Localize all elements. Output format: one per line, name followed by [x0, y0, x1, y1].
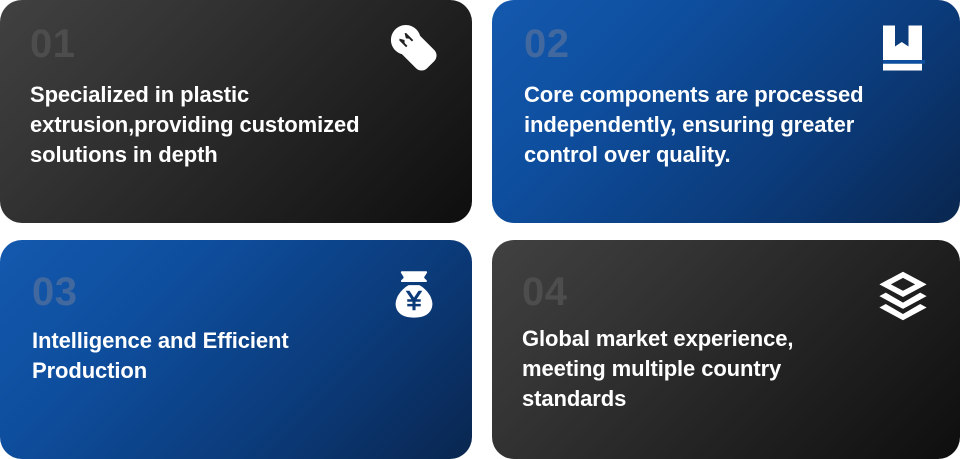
card-text-04: Global market experience, meeting multip… — [522, 324, 930, 414]
card-text-02: Core components are processed independen… — [524, 80, 930, 170]
card-number-02: 02 — [524, 24, 930, 64]
card-number-01: 01 — [30, 24, 442, 64]
feature-card-01[interactable]: 01 Specialized in plastic extrusion,prov… — [0, 0, 472, 223]
card-text-03: Intelligence and Efficient Production — [32, 326, 442, 386]
layers-stack-icon — [876, 270, 930, 324]
card-number-04: 04 — [522, 272, 930, 312]
feature-card-04[interactable]: 04 Global market experience, meeting mul… — [492, 240, 960, 459]
feature-card-grid: 01 Specialized in plastic extrusion,prov… — [0, 0, 960, 459]
card-text-01: Specialized in plastic extrusion,providi… — [30, 80, 442, 170]
wrench-icon — [388, 22, 438, 72]
card-number-03: 03 — [32, 272, 442, 312]
feature-card-02[interactable]: 02 Core components are processed indepen… — [492, 0, 960, 223]
feature-card-03[interactable]: 03 Intelligence and Efficient Production — [0, 240, 472, 459]
money-bag-yen-icon — [388, 268, 440, 320]
book-bookmark-icon — [880, 24, 928, 72]
